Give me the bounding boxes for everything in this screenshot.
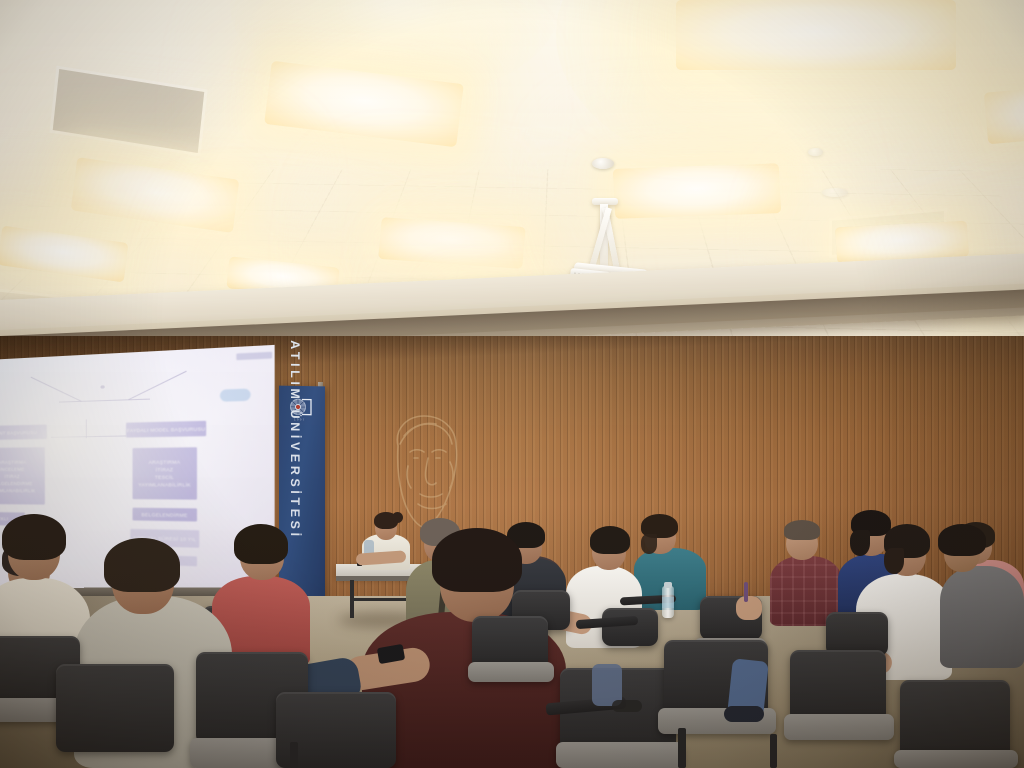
- attendee-gray-right: [940, 566, 1024, 668]
- attendee-white-mid-hair: [590, 526, 630, 554]
- attendee-maroon-hair: [784, 520, 820, 540]
- chair-seat-front-8[interactable]: [894, 750, 1018, 768]
- attendee-red-polo-hair: [234, 524, 288, 564]
- chair-seat-front-6[interactable]: [468, 662, 554, 682]
- attendee-teal-beard: [641, 534, 657, 554]
- attendee-beige-hair: [2, 514, 66, 560]
- table-crossbar: [352, 598, 414, 601]
- attendee-gray-front-hair: [104, 538, 180, 592]
- chair-back-mid-5[interactable]: [602, 608, 658, 646]
- attendee-shoe-2: [612, 700, 642, 712]
- chair-leg-front-1: [290, 742, 298, 768]
- ceiling-speaker: [822, 188, 848, 197]
- attendee-navy-beard: [850, 530, 870, 556]
- chair-back-front-2[interactable]: [56, 664, 174, 752]
- chair-seat-front-4[interactable]: [556, 742, 684, 768]
- chair-back-front-8[interactable]: [900, 680, 1010, 760]
- attendee-gray-right-hair: [938, 524, 986, 556]
- ceiling-light-11: [676, 0, 956, 70]
- seminar-room-photo: PATENT BAŞVURUSU ARAŞTIRMA İNCELEME ITIR…: [0, 0, 1024, 768]
- water-bottle-cap: [664, 582, 672, 588]
- chair-leg-front-3: [770, 734, 777, 768]
- attendee-hand-with-pen: [736, 596, 762, 620]
- chair-leg-front-2: [678, 728, 686, 768]
- attendee-white-right-beard: [884, 548, 904, 574]
- presenter-hair-bun: [392, 512, 403, 523]
- chair-back-front-7[interactable]: [790, 650, 886, 722]
- banner-organization-text: ATILIM ÜNİVERSİTESİ: [288, 340, 302, 540]
- pen: [744, 582, 748, 602]
- water-bottle-label: [662, 597, 674, 608]
- attendee-shoe-1: [724, 706, 764, 722]
- ceiling-vent-1: [53, 69, 205, 153]
- chair-seat-front-7[interactable]: [784, 714, 894, 740]
- attendee-burgundy-hair: [432, 528, 522, 592]
- smoke-detector-2: [808, 148, 823, 156]
